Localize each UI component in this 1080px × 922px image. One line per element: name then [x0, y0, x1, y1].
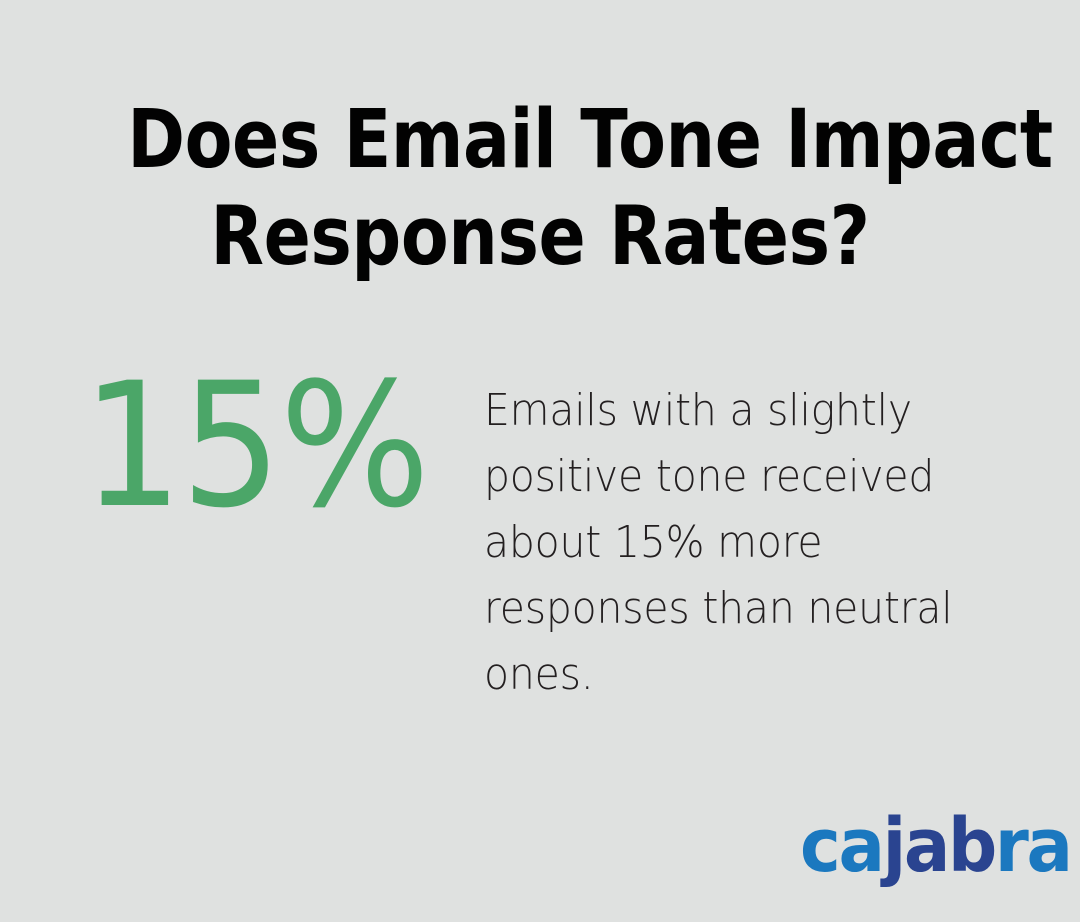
infographic-card: Does Email Tone Impact Response Rates? 1… — [0, 0, 1080, 922]
statistic-description: Emails with a slightly positive tone rec… — [484, 378, 968, 708]
logo-segment-ca: ca — [800, 803, 883, 889]
logo-segment-jab: jab — [883, 803, 995, 889]
cajabra-logo: cajabra — [800, 800, 1045, 892]
page-title: Does Email Tone Impact Response Rates? — [60, 92, 1020, 286]
logo-wordmark: cajabra — [800, 800, 1071, 892]
logo-segment-ra: ra — [995, 803, 1071, 889]
statistic-value: 15% — [82, 360, 386, 532]
title-line-1: Does Email Tone Impact — [127, 92, 953, 189]
statistic-row: 15% Emails with a slightly positive tone… — [0, 360, 1080, 720]
title-line-2: Response Rates? — [127, 189, 953, 286]
